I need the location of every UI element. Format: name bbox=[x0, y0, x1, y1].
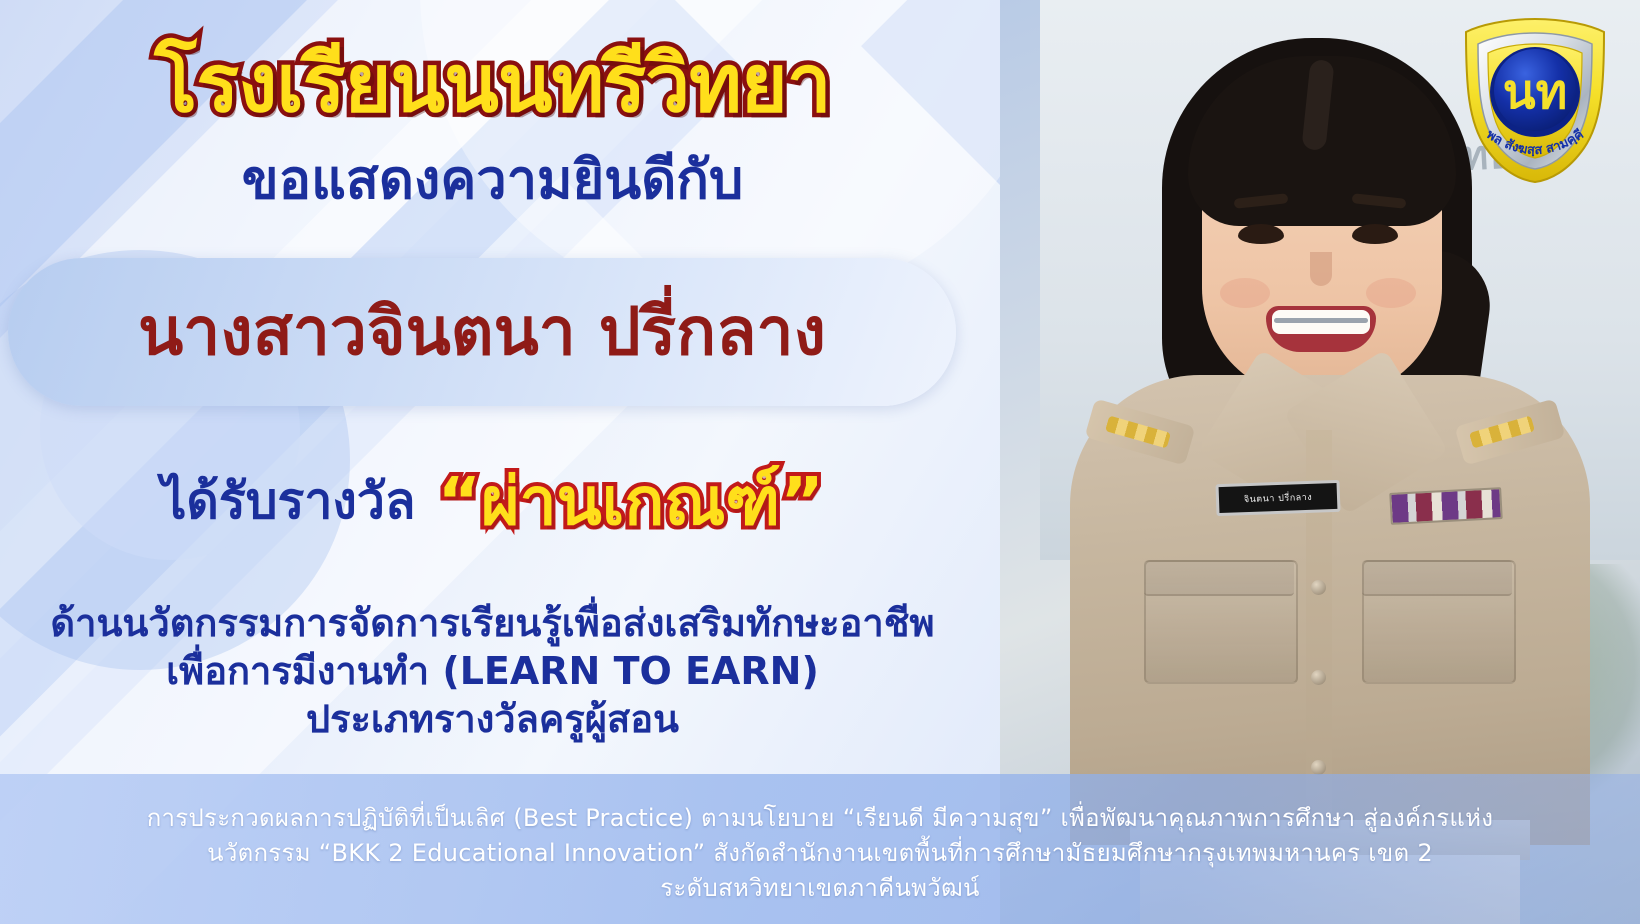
footer-line-3: ระดับสหวิทยาเขตภาคีนพวัฒน์ bbox=[660, 873, 980, 903]
footer-caption-bar: การประกวดผลการปฏิบัติที่เป็นเลิศ (Best P… bbox=[0, 774, 1640, 924]
description-line-2: เพื่อการมีงานทำ (LEARN TO EARN) bbox=[0, 648, 985, 696]
honoree-name: นางสาวจินตนา ปรี่กลาง bbox=[138, 299, 826, 365]
honoree-name-pill: นางสาวจินตนา ปรี่กลาง bbox=[8, 258, 956, 406]
nose bbox=[1310, 252, 1332, 286]
shield-icon: นท พล สังฆสฺส สามคฺคี bbox=[1452, 14, 1618, 186]
description-line-3: ประเภทรางวัลครูผู้สอน bbox=[0, 696, 985, 744]
award-value: “ผ่านเกณฑ์” bbox=[438, 464, 824, 540]
congratulations-poster: นนทรีวิทยา bbox=[0, 0, 1640, 924]
school-name-title: โรงเรียนนนทรีวิทยา bbox=[0, 44, 985, 124]
badge-monogram-text: นท bbox=[1503, 64, 1567, 120]
award-row: ได้รับรางวัล “ผ่านเกณฑ์” bbox=[0, 462, 985, 541]
school-emblem-badge: นท พล สังฆสฺส สามคฺคี bbox=[1452, 14, 1618, 186]
footer-line-1: การประกวดผลการปฏิบัติที่เป็นเลิศ (Best P… bbox=[147, 803, 1494, 833]
smiling-mouth bbox=[1266, 306, 1376, 352]
chest-pocket-right bbox=[1362, 560, 1516, 684]
cheek-right bbox=[1366, 278, 1416, 308]
braces bbox=[1274, 318, 1368, 323]
shirt-button bbox=[1311, 580, 1326, 595]
award-description: ด้านนวัตกรรมการจัดการเรียนรู้เพื่อส่งเสร… bbox=[0, 600, 985, 744]
shirt-button bbox=[1311, 670, 1326, 685]
cheek-left bbox=[1220, 278, 1270, 308]
shirt-button bbox=[1311, 760, 1326, 775]
uniform-name-tag: จินตนา ปรี่กลาง bbox=[1215, 480, 1340, 516]
eye-left bbox=[1238, 224, 1284, 244]
congratulation-subtitle: ขอแสดงความยินดีกับ bbox=[0, 150, 985, 209]
service-ribbon-bar bbox=[1389, 487, 1503, 525]
eye-right bbox=[1352, 224, 1398, 244]
name-tag-text: จินตนา ปรี่กลาง bbox=[1244, 490, 1313, 506]
description-line-1: ด้านนวัตกรรมการจัดการเรียนรู้เพื่อส่งเสร… bbox=[0, 600, 985, 648]
footer-line-2: นวัตกรรม “BKK 2 Educational Innovation” … bbox=[207, 838, 1433, 868]
award-label: ได้รับรางวัล bbox=[161, 462, 415, 541]
chest-pocket-left bbox=[1144, 560, 1298, 684]
